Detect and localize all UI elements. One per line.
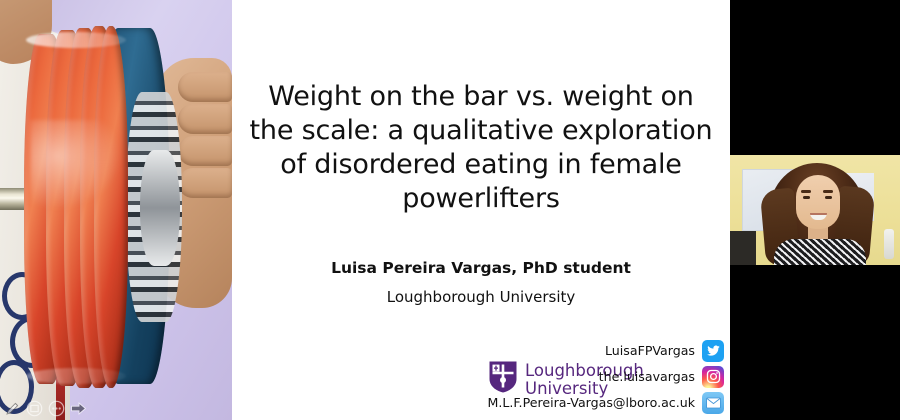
webcam-bottle (884, 229, 894, 259)
twitter-icon[interactable] (702, 340, 724, 362)
instagram-handle-text: the.luisavargas (599, 369, 695, 384)
contact-row-email[interactable]: M.L.F.Pereira-Vargas@lboro.ac.uk (487, 391, 724, 414)
more-options-icon[interactable] (48, 400, 65, 417)
presenter-eyebrow (823, 190, 833, 193)
presenter-name: Luisa Pereira Vargas, PhD student (248, 259, 714, 277)
twitter-handle-text: LuisaFPVargas (605, 343, 695, 358)
lifter-finger (178, 136, 232, 166)
slide-canvas: Weight on the bar vs. weight on the scal… (232, 0, 730, 420)
contact-list: LuisaFPVargas the.luisavargas (487, 339, 724, 414)
presenter-eye (803, 196, 810, 199)
lifter-finger (178, 72, 232, 102)
webcam-furniture (730, 231, 756, 265)
next-slide-arrow-icon[interactable] (70, 400, 87, 417)
plate-rim-highlight (26, 368, 126, 384)
contact-row-instagram[interactable]: the.luisavargas (599, 365, 724, 388)
email-address-text: M.L.F.Pereira-Vargas@lboro.ac.uk (487, 395, 695, 410)
presenter-face (796, 175, 840, 229)
presentation-viewer: Weight on the bar vs. weight on the scal… (0, 0, 900, 420)
slide-view-icon[interactable] (26, 400, 43, 417)
video-sidebar (730, 0, 900, 420)
presenter-eye (825, 196, 832, 199)
presenter-patterned-top (774, 239, 866, 265)
presenter-affiliation: Loughborough University (248, 288, 714, 306)
contact-row-twitter[interactable]: LuisaFPVargas (605, 339, 724, 362)
pen-icon[interactable] (4, 400, 21, 417)
slide-title: Weight on the bar vs. weight on the scal… (248, 80, 714, 216)
plate-gloss-highlight (30, 120, 122, 210)
plate-rim-highlight (26, 32, 126, 48)
lifter-finger (178, 168, 232, 198)
presenter-webcam-feed[interactable] (730, 155, 900, 265)
barbell-plates-photo (0, 0, 232, 420)
instagram-icon[interactable] (702, 366, 724, 388)
presenter-controls-bar[interactable] (4, 400, 87, 417)
email-icon[interactable] (702, 392, 724, 414)
plate-hub-center (140, 150, 180, 266)
lifter-finger (178, 104, 232, 134)
presenter-eyebrow (801, 190, 811, 193)
